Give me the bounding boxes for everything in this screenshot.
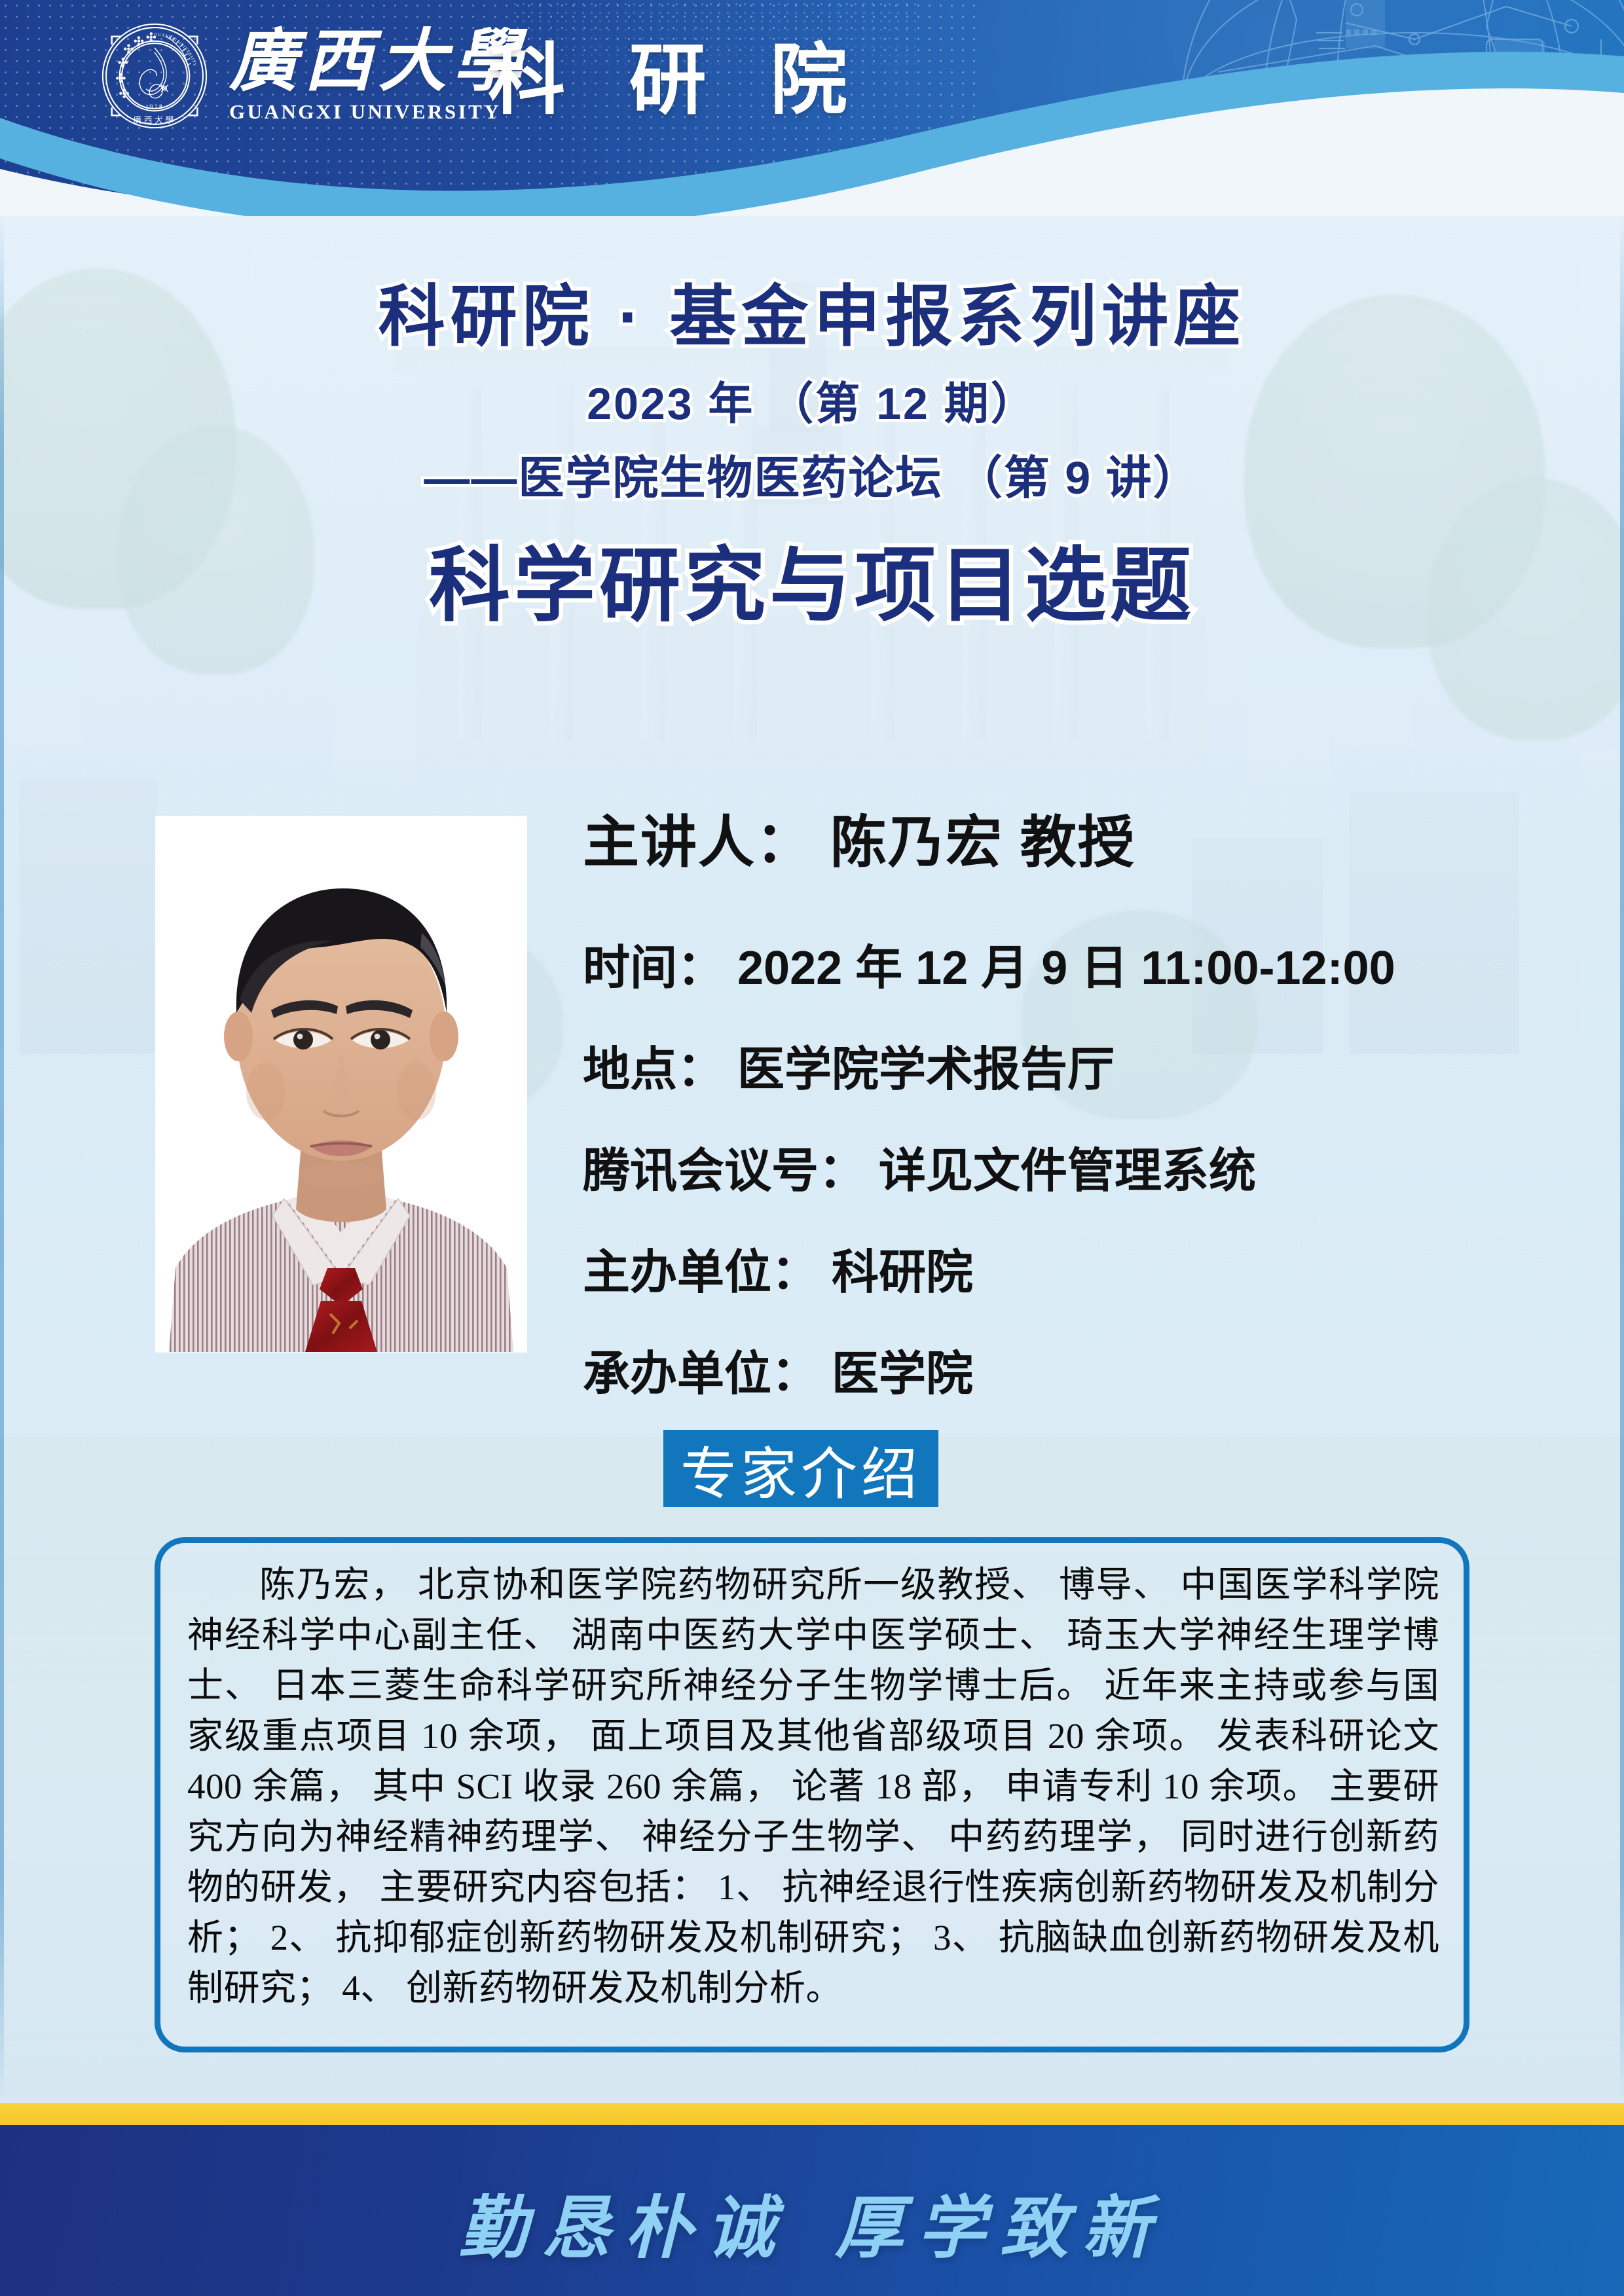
expert-bio-text: 陈乃宏， 北京协和医学院药物研究所一级教授、 博导、 中国医学科学院神经科学中心… [187, 1559, 1439, 2013]
university-seal-icon: GUANGXI UNIVERSITY 1928 廣西大學 [98, 20, 211, 132]
university-motto: 勤恳朴诚厚学致新 [0, 2172, 1624, 2271]
poster-canvas: GUANGXI UNIVERSITY 1928 廣西大學 廣西大學 GUANGX… [0, 0, 1624, 2296]
expert-intro-label: 专家介绍 [680, 1428, 921, 1510]
event-details: 主讲人： 陈乃宏 教授 时间： 2022 年 12 月 9 日 11:00-12… [583, 796, 1552, 1404]
title-block: 科研院 · 基金申报系列讲座 2023 年 （第 12 期） ——医学院生物医药… [0, 278, 1624, 637]
department-name: 科 研 院 [488, 17, 870, 129]
svg-text:1928: 1928 [145, 104, 164, 111]
detail-location: 地点： 医学院学术报告厅 [583, 1030, 1552, 1099]
detail-organizer: 主办单位： 科研院 [583, 1233, 1552, 1302]
lecture-edition: 2023 年 （第 12 期） [0, 367, 1624, 432]
speaker-portrait [156, 816, 526, 1352]
motto-right: 厚学致新 [835, 2191, 1165, 2267]
lecture-main-title: 科学研究与项目选题 [0, 519, 1624, 637]
lecture-forum: ——医学院生物医药论坛 （第 9 讲） [0, 441, 1624, 507]
motto-left: 勤恳朴诚 [459, 2191, 789, 2267]
poster-header: GUANGXI UNIVERSITY 1928 廣西大學 廣西大學 GUANGX… [0, 0, 1624, 216]
university-name-en: GUANGXI UNIVERSITY [229, 100, 528, 124]
lecture-series-title: 科研院 · 基金申报系列讲座 [0, 278, 1624, 355]
expert-intro-badge: 专家介绍 [663, 1430, 938, 1507]
svg-text:廣西大學: 廣西大學 [133, 116, 175, 125]
footer-accent-stripe [0, 2103, 1624, 2125]
detail-speaker: 主讲人： 陈乃宏 教授 [583, 796, 1552, 878]
brand-text: 廣西大學 GUANGXI UNIVERSITY [229, 28, 528, 124]
detail-meeting-id: 腾讯会议号： 详见文件管理系统 [583, 1132, 1552, 1201]
brand-lockup: GUANGXI UNIVERSITY 1928 廣西大學 廣西大學 GUANGX… [98, 20, 528, 132]
detail-host-unit: 承办单位： 医学院 [583, 1335, 1552, 1404]
detail-time: 时间： 2022 年 12 月 9 日 11:00-12:00 [583, 929, 1552, 998]
university-name-cn: 廣西大學 [229, 28, 528, 96]
